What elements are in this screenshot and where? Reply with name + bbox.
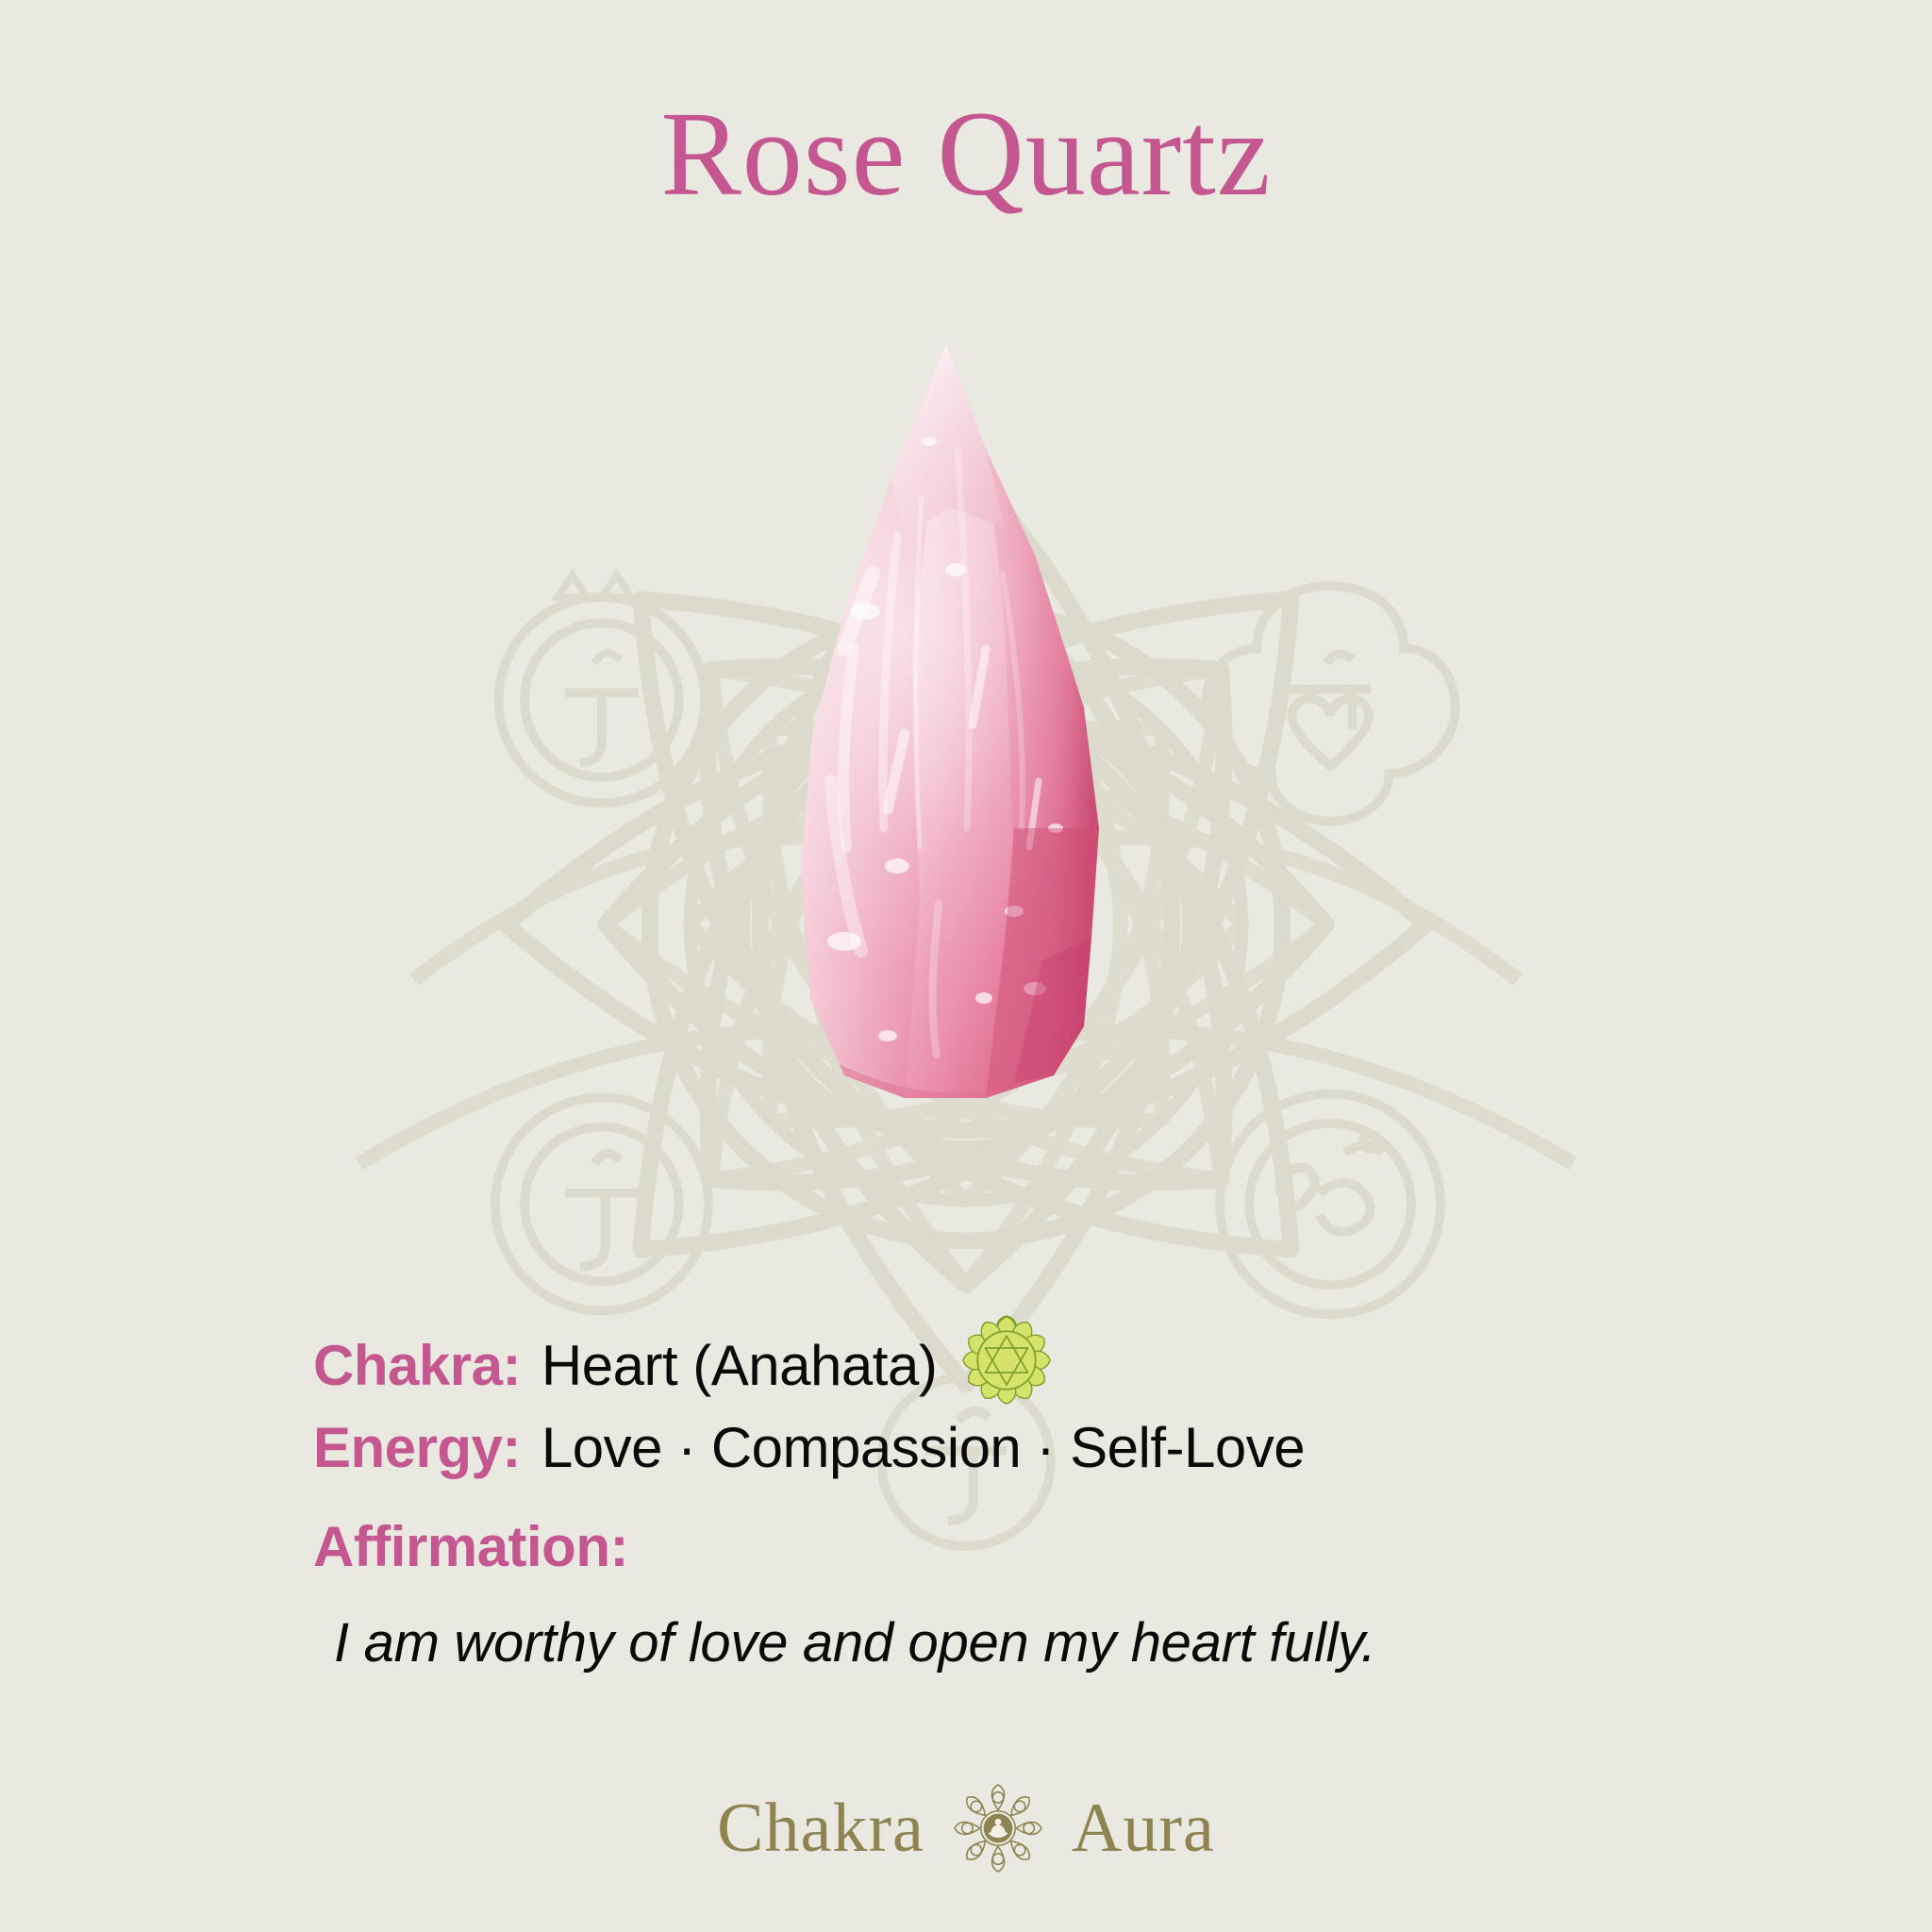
anahata-chakra-icon	[961, 1315, 1052, 1406]
chakra-label: Chakra:	[313, 1333, 521, 1398]
crystal-info-card: Rose Quartz	[0, 0, 1932, 1932]
brand-word-aura: Aura	[1072, 1793, 1215, 1863]
affirmation-label: Affirmation:	[313, 1514, 1653, 1579]
brand-footer: Chakra	[0, 1783, 1932, 1874]
chakra-value: Heart (Anahata)	[541, 1333, 937, 1398]
chakra-row: Chakra: Heart (Anahata)	[313, 1294, 1653, 1398]
lotus-meditation-logo	[953, 1783, 1043, 1874]
energy-value: Love · Compassion · Self-Love	[541, 1415, 1305, 1480]
brand-word-chakra: Chakra	[717, 1793, 924, 1863]
crystal-image	[703, 338, 1212, 1121]
page-title: Rose Quartz	[0, 91, 1932, 217]
affirmation-text: I am worthy of love and open my heart fu…	[334, 1611, 1653, 1674]
energy-row: Energy: Love · Compassion · Self-Love	[313, 1415, 1653, 1480]
crystal-details: Chakra: Heart (Anahata)	[313, 1294, 1653, 1674]
energy-label: Energy:	[313, 1415, 521, 1480]
